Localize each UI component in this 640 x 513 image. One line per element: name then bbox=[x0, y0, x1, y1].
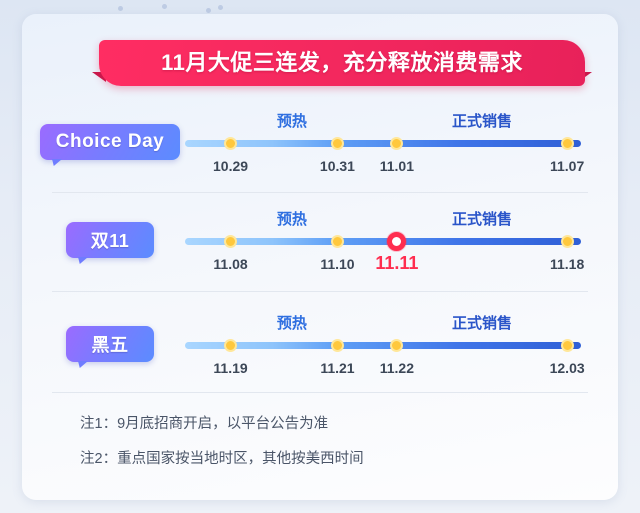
timeline-dot bbox=[331, 137, 344, 150]
note-1: 注1：9月底招商开启，以平台公告为准 bbox=[80, 412, 580, 433]
phase-warmup-label: 预热 bbox=[277, 312, 307, 333]
timeline-dot bbox=[331, 235, 344, 248]
page-title: 11月大促三连发，充分释放消费需求 bbox=[99, 40, 585, 86]
content-card: 11月大促三连发，充分释放消费需求 Choice Day 预热 正式销售 10.… bbox=[22, 14, 618, 500]
note-2: 注2：重点国家按当地时区，其他按美西时间 bbox=[80, 447, 580, 468]
timeline-dot bbox=[224, 235, 237, 248]
tick-label: 11.19 bbox=[213, 360, 247, 376]
timeline-dot bbox=[390, 339, 403, 352]
tick-label: 11.07 bbox=[550, 158, 584, 174]
phase-sale-label: 正式销售 bbox=[452, 110, 512, 131]
row-divider bbox=[52, 192, 588, 193]
timeline-row-black-friday: 黑五 预热 正式销售 11.19 11.21 11.22 12.03 bbox=[22, 306, 618, 402]
tick-label: 11.08 bbox=[213, 256, 247, 272]
timeline-bar bbox=[185, 238, 581, 245]
tick-label: 11.18 bbox=[550, 256, 584, 272]
notes-block: 注1：9月底招商开启，以平台公告为准 注2：重点国家按当地时区，其他按美西时间 bbox=[80, 412, 580, 482]
timeline-double-11: 预热 正式销售 11.08 11.10 11.11 11.18 bbox=[185, 230, 581, 252]
row-label-text: 黑五 bbox=[92, 331, 129, 357]
tick-label: 11.22 bbox=[380, 360, 414, 376]
row-label-text: 双11 bbox=[91, 227, 130, 253]
tick-label: 12.03 bbox=[550, 360, 585, 376]
tick-label: 11.01 bbox=[380, 158, 414, 174]
phase-sale-label: 正式销售 bbox=[452, 312, 512, 333]
timeline-row-choice-day: Choice Day 预热 正式销售 10.29 10.31 11.01 11.… bbox=[22, 104, 618, 200]
timeline-bar bbox=[185, 140, 581, 147]
timeline-dot bbox=[390, 137, 403, 150]
timeline-black-friday: 预热 正式销售 11.19 11.21 11.22 12.03 bbox=[185, 334, 581, 356]
timeline-dot bbox=[224, 137, 237, 150]
tick-label: 11.21 bbox=[320, 360, 354, 376]
phase-sale-label: 正式销售 bbox=[452, 208, 512, 229]
timeline-dot bbox=[561, 235, 574, 248]
tick-label: 11.10 bbox=[320, 256, 354, 272]
tick-label: 10.31 bbox=[320, 158, 355, 174]
row-divider bbox=[52, 291, 588, 292]
timeline-dot-highlight bbox=[387, 232, 406, 251]
row-label-black-friday: 黑五 bbox=[66, 326, 154, 362]
timeline-dot bbox=[224, 339, 237, 352]
timeline-bar bbox=[185, 342, 581, 349]
phase-warmup-label: 预热 bbox=[277, 110, 307, 131]
row-divider bbox=[52, 392, 588, 393]
timeline-row-double-11: 双11 预热 正式销售 11.08 11.10 11.11 11.18 bbox=[22, 202, 618, 298]
phase-warmup-label: 预热 bbox=[277, 208, 307, 229]
timeline-dot bbox=[331, 339, 344, 352]
row-label-text: Choice Day bbox=[56, 131, 164, 153]
timeline-dot bbox=[561, 137, 574, 150]
row-label-choice-day: Choice Day bbox=[40, 124, 180, 160]
row-label-double-11: 双11 bbox=[66, 222, 154, 258]
timeline-choice-day: 预热 正式销售 10.29 10.31 11.01 11.07 bbox=[185, 132, 581, 154]
timeline-dot bbox=[561, 339, 574, 352]
infographic-page: 11月大促三连发，充分释放消费需求 Choice Day 预热 正式销售 10.… bbox=[0, 0, 640, 513]
tick-label: 10.29 bbox=[213, 158, 248, 174]
tick-label-highlight: 11.11 bbox=[375, 253, 418, 274]
